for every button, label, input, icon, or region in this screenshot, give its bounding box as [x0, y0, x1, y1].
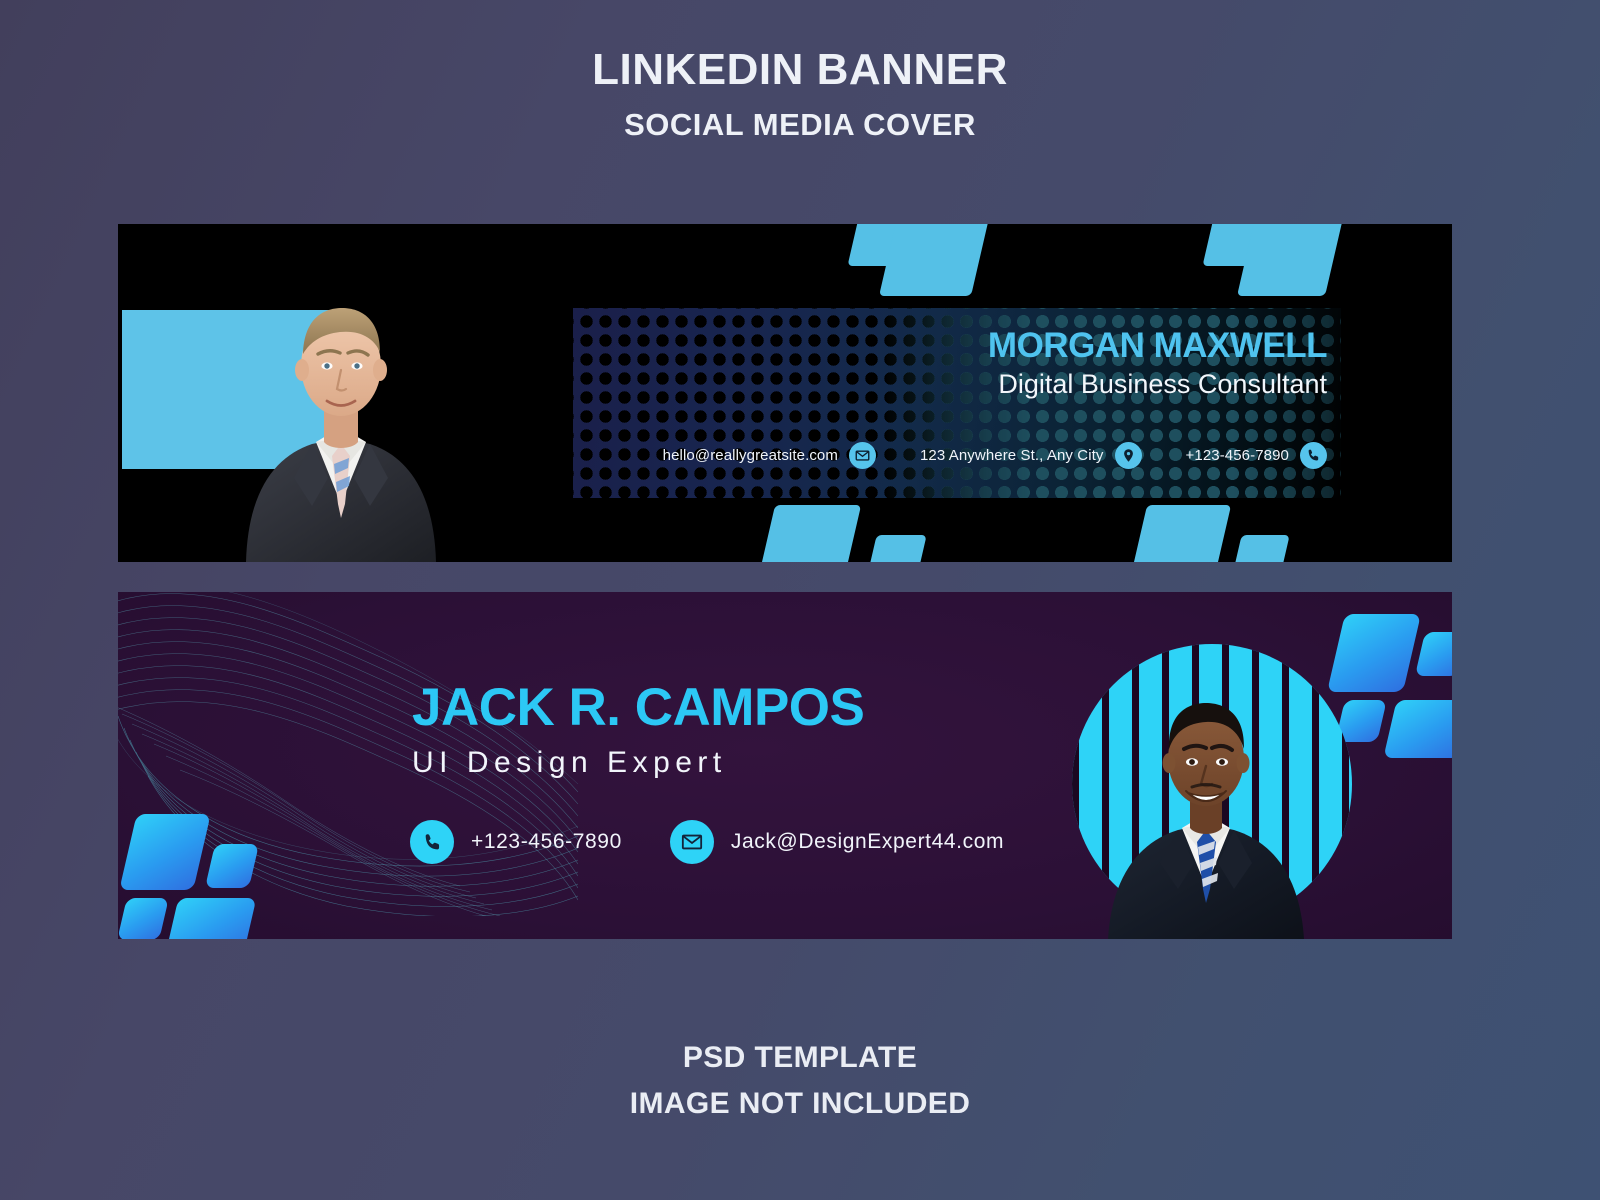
decorative-tile [1415, 632, 1452, 676]
page-title: LINKEDIN BANNER [0, 48, 1600, 92]
banner-one-portrait [208, 242, 474, 562]
banner-two-contact-row: +123-456-7890 Jack@DesignExpert44.com [410, 820, 1004, 864]
banner-two-name: JACK R. CAMPOS [412, 677, 864, 738]
decorative-parallelogram [1133, 505, 1231, 562]
email-icon [670, 820, 714, 864]
decorative-tile [118, 898, 169, 939]
contact-email-text: hello@reallygreatsite.com [663, 447, 838, 464]
contact-phone-text: +123-456-7890 [471, 830, 622, 854]
contact-email[interactable]: hello@reallygreatsite.com [663, 442, 876, 469]
contact-email-text: Jack@DesignExpert44.com [731, 830, 1004, 854]
contact-phone[interactable]: +123-456-7890 [1186, 442, 1327, 469]
banner-two-role: UI Design Expert [412, 746, 727, 780]
contact-email[interactable]: Jack@DesignExpert44.com [670, 820, 1004, 864]
banner-one-name: MORGAN MAXWELL [988, 326, 1327, 366]
banner-two-portrait-group [1050, 622, 1380, 939]
page-header: LINKEDIN BANNER SOCIAL MEDIA COVER [0, 0, 1600, 143]
decorative-parallelogram [1237, 224, 1343, 296]
email-icon [849, 442, 876, 469]
decorative-tile [166, 898, 257, 939]
contact-address[interactable]: 123 Anywhere St., Any City [920, 442, 1142, 469]
banner-morgan-maxwell: MORGAN MAXWELL Digital Business Consulta… [118, 224, 1452, 562]
contact-phone-text: +123-456-7890 [1186, 447, 1289, 464]
phone-icon [410, 820, 454, 864]
decorative-parallelogram [1234, 535, 1289, 562]
page-subtitle: SOCIAL MEDIA COVER [0, 107, 1600, 143]
info-panel: MORGAN MAXWELL Digital Business Consulta… [573, 308, 1341, 498]
decorative-parallelogram [761, 505, 861, 562]
decorative-parallelogram [869, 535, 926, 562]
banner-one-contact-row: hello@reallygreatsite.com 123 Anywhere S… [573, 442, 1327, 469]
contact-phone[interactable]: +123-456-7890 [410, 820, 622, 864]
contact-address-text: 123 Anywhere St., Any City [920, 447, 1104, 464]
location-pin-icon [1115, 442, 1142, 469]
decorative-parallelogram [879, 224, 989, 296]
phone-icon [1300, 442, 1327, 469]
banner-jack-campos: JACK R. CAMPOS UI Design Expert +123-456… [118, 592, 1452, 939]
decorative-tile [1383, 700, 1452, 758]
banner-two-portrait [1098, 667, 1338, 939]
banner-one-role: Digital Business Consultant [998, 369, 1327, 400]
footer-line-1: PSD TEMPLATE [0, 1035, 1600, 1081]
footer-line-2: IMAGE NOT INCLUDED [0, 1081, 1600, 1127]
page-footer: PSD TEMPLATE IMAGE NOT INCLUDED [0, 1035, 1600, 1126]
